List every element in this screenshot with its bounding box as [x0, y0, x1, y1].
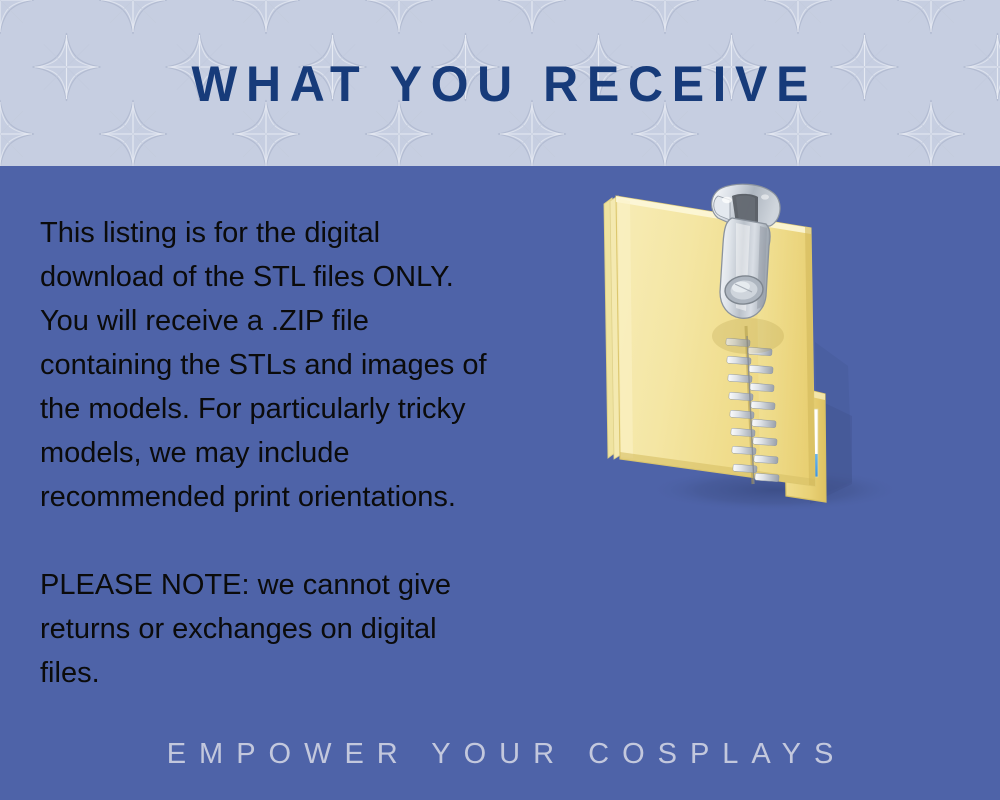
folder-body [604, 196, 815, 486]
header-band: WHAT YOU RECEIVE [0, 0, 1000, 166]
body-area: This listing is for the digital download… [0, 166, 1000, 800]
paragraph-line: containing the STLs and images of [40, 343, 510, 387]
page-title: WHAT YOU RECEIVE [15, 55, 985, 113]
paragraph-line: models, we may include [40, 431, 510, 475]
paragraph-line: You will receive a .ZIP file [40, 299, 510, 343]
paragraph-spacer [40, 519, 510, 563]
paragraph-line: returns or exchanges on digital [40, 607, 510, 651]
paragraph-line: PLEASE NOTE: we cannot give [40, 563, 510, 607]
paragraph-line: recommended print orientations. [40, 475, 510, 519]
footer-tagline: EMPOWER YOUR COSPLAYS [0, 738, 1000, 771]
paragraph-line: files. [40, 651, 510, 695]
body-copy-block: This listing is for the digital download… [40, 211, 510, 695]
paragraph-line: This listing is for the digital [40, 211, 510, 255]
promo-graphic-canvas: WHAT YOU RECEIVE This listing is for the… [0, 0, 1000, 800]
zip-folder-icon [560, 166, 920, 526]
paragraph-line: the models. For particularly tricky [40, 387, 510, 431]
paragraph-line: download of the STL files ONLY. [40, 255, 510, 299]
